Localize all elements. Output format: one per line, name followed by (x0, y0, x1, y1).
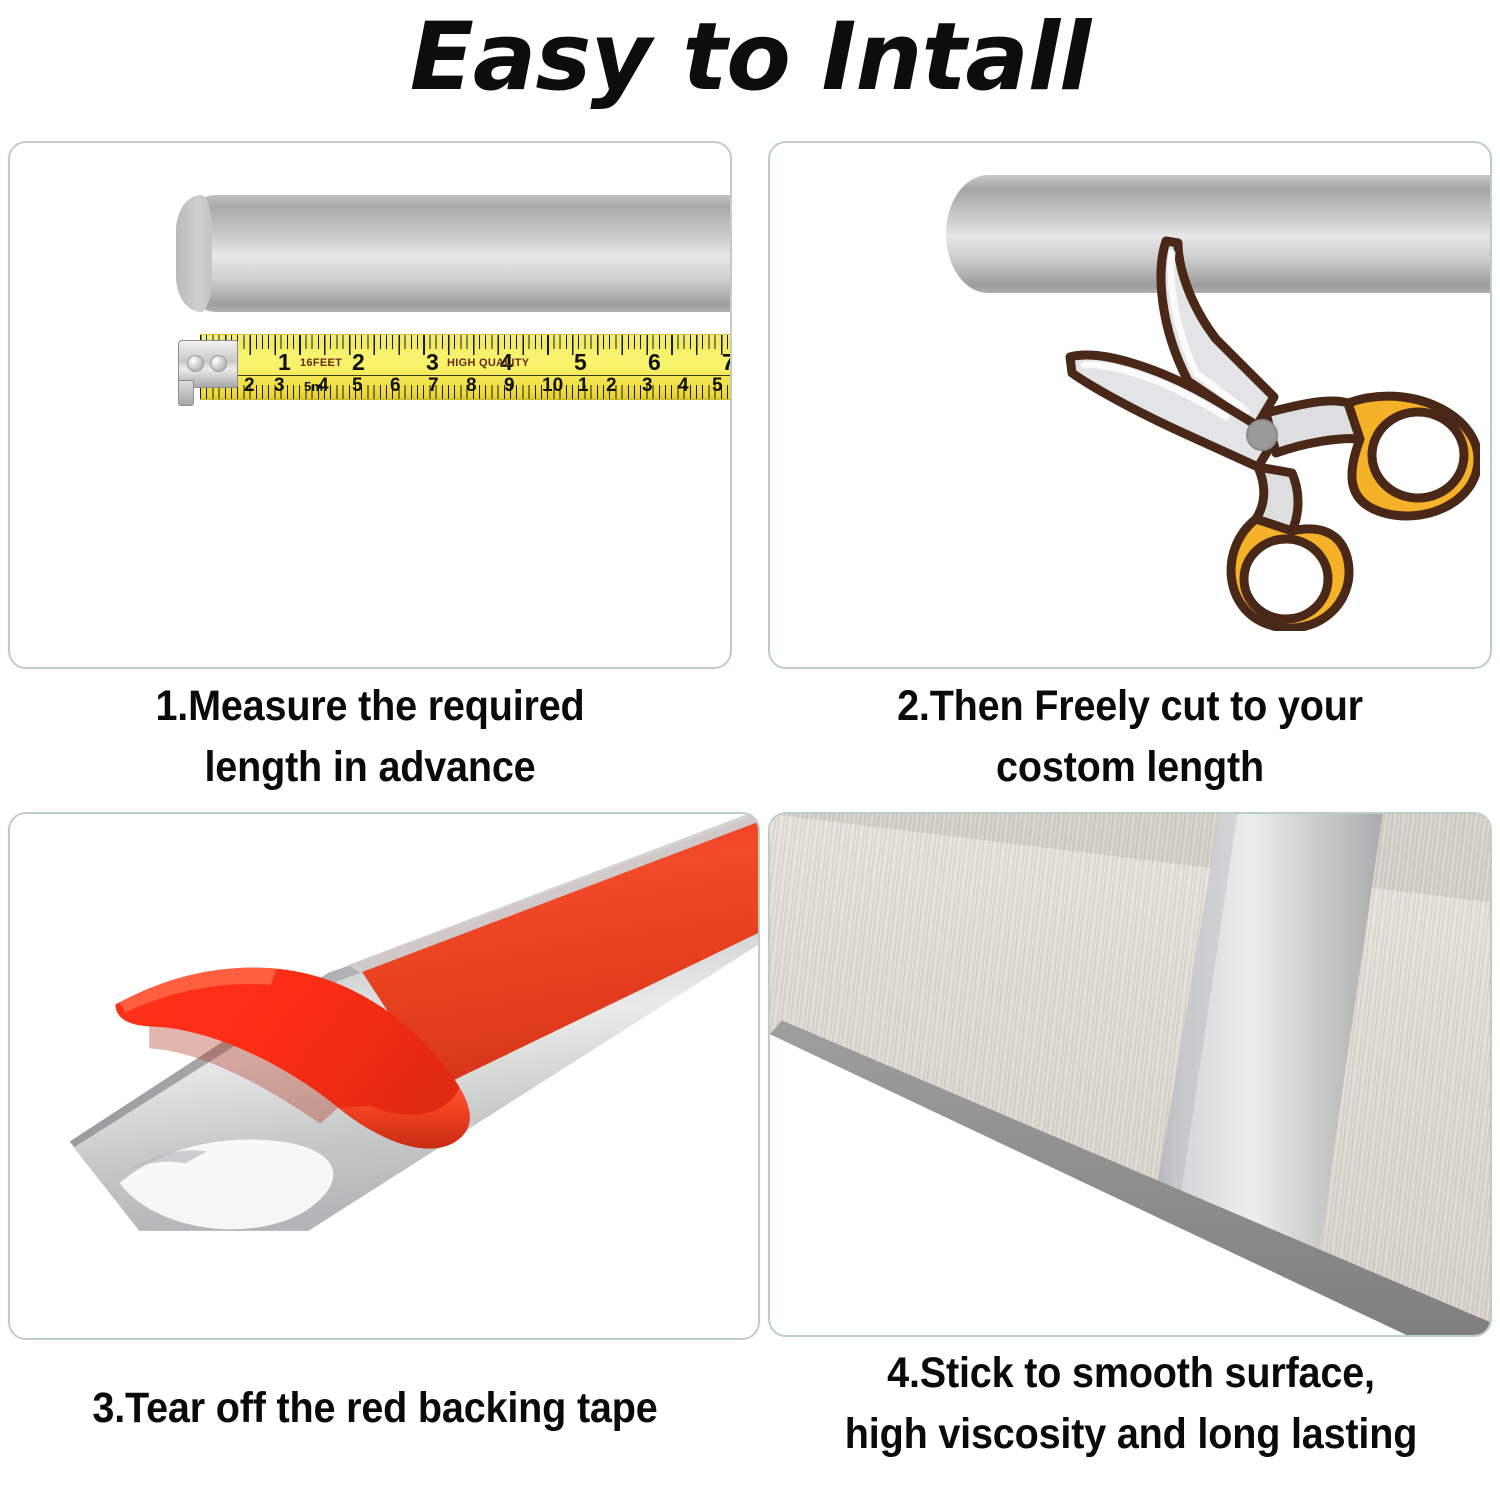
step-2-caption: 2.Then Freely cut to your costom length (799, 676, 1461, 798)
step-2-caption-line2: costom length (799, 737, 1461, 798)
tape-inch-mark: 2 (352, 349, 365, 376)
peel-panel (8, 812, 760, 1340)
step-4-caption-line1: 4.Stick to smooth surface, (887, 1349, 1375, 1397)
measure-panel: 1 2 3 4 5 6 7 2 3 4 5 6 7 8 9 10 1 2 3 (8, 141, 732, 669)
scissors-pivot-screw (1247, 420, 1277, 450)
tape-cm-mark: 10 (542, 375, 563, 397)
step-1-caption-line1: 1.Measure the required (155, 682, 584, 730)
scissors-icon (1060, 231, 1480, 631)
grey-pipe-illustration (176, 195, 732, 312)
step-3-caption: 3.Tear off the red backing tape (30, 1378, 720, 1439)
floor-seam-line (1211, 1280, 1218, 1312)
backing-tape-illustration (10, 814, 758, 1338)
tape-inch-mark: 6 (648, 349, 661, 376)
tape-cm-mark: 4 (678, 375, 689, 397)
tape-metric-length-label: 5m (304, 379, 323, 394)
tape-measure-illustration: 1 2 3 4 5 6 7 2 3 4 5 6 7 8 9 10 1 2 3 (178, 334, 732, 398)
tape-inch-mark: 7 (722, 349, 732, 376)
step-1-caption: 1.Measure the required length in advance (39, 676, 701, 798)
tape-measure-hook-lip (178, 380, 194, 406)
tape-cm-mark: 1 (578, 375, 589, 397)
tape-imperial-length-label: 16FEET (300, 357, 342, 369)
tape-inch-mark: 5 (574, 349, 587, 376)
infographic-root: Easy to Intall 1 2 3 4 5 6 7 2 3 4 (0, 0, 1500, 1485)
step-4-caption: 4.Stick to smooth surface, high viscosit… (792, 1343, 1471, 1465)
scissors-ring-hole-upper (1372, 412, 1464, 498)
tape-inch-mark: 3 (426, 349, 439, 376)
tape-cm-mark: 2 (606, 375, 617, 397)
floor-installation-illustration (770, 814, 1490, 1335)
step-2-caption-line1: 2.Then Freely cut to your (897, 682, 1363, 730)
page-title: Easy to Intall (0, 2, 1500, 112)
tape-cm-mark: 5 (712, 375, 723, 397)
tape-brand-label: HIGH QUALITY (447, 357, 529, 369)
step-3-caption-line1: 3.Tear off the red backing tape (92, 1384, 657, 1432)
scissors-ring-hole-lower (1244, 539, 1328, 619)
cut-panel (768, 141, 1492, 669)
tape-cm-mark: 3 (274, 375, 285, 397)
stick-panel (768, 812, 1492, 1337)
tape-cm-mark: 6 (390, 375, 401, 397)
tape-cm-mark: 5 (352, 375, 363, 397)
tape-inch-mark: 1 (278, 349, 291, 376)
tape-measure-blade: 1 2 3 4 5 6 7 2 3 4 5 6 7 8 9 10 1 2 3 (200, 334, 732, 400)
tape-cm-mark: 2 (244, 375, 255, 397)
step-1-caption-line2: length in advance (39, 737, 701, 798)
tape-cm-mark: 9 (504, 375, 515, 397)
tape-cm-mark: 7 (428, 375, 439, 397)
tape-cm-mark: 8 (466, 375, 477, 397)
tape-cm-mark: 3 (642, 375, 653, 397)
step-4-caption-line2: high viscosity and long lasting (792, 1404, 1471, 1465)
